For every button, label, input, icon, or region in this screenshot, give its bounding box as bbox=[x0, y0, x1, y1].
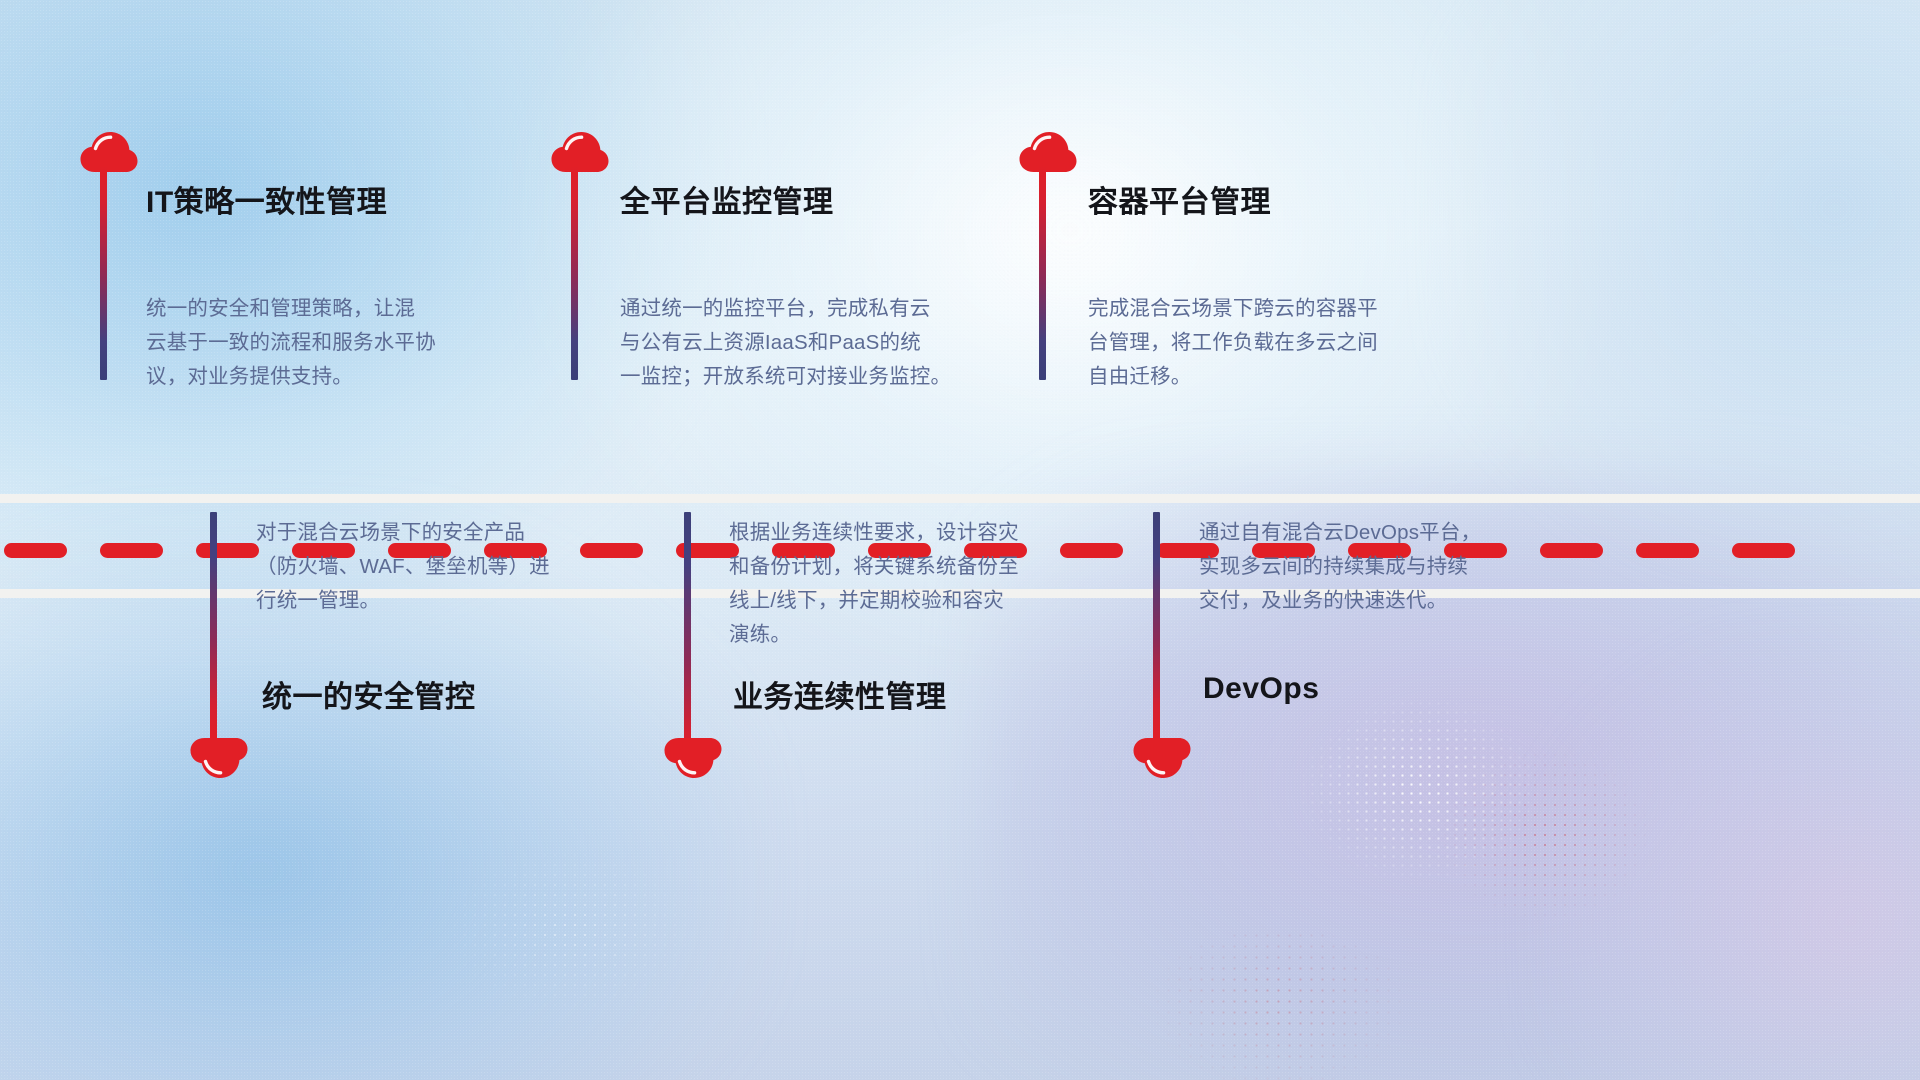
connector-pole bbox=[684, 512, 691, 775]
cloud-icon bbox=[1133, 737, 1191, 779]
bottom-row-group: 统一的安全管控 对于混合云场景下的安全产品 （防火墙、WAF、堡垒机等）进 行统… bbox=[0, 0, 1920, 1080]
connector-pole bbox=[1153, 512, 1160, 742]
body-line: 和备份计划，将关键系统备份至 bbox=[729, 550, 1089, 584]
card-title: 业务连续性管理 bbox=[733, 672, 947, 716]
connector-pole bbox=[210, 512, 217, 742]
body-line: 行统一管理。 bbox=[256, 584, 616, 618]
body-line: 根据业务连续性要求，设计容灾 bbox=[729, 516, 1089, 550]
body-line: 对于混合云场景下的安全产品 bbox=[256, 516, 616, 550]
infographic-canvas: IT策略一致性管理 统一的安全和管理策略，让混 云基于一致的流程和服务水平协 议… bbox=[0, 0, 1920, 1080]
card-title: 统一的安全管控 bbox=[262, 672, 476, 716]
body-line: 交付，及业务的快速迭代。 bbox=[1199, 584, 1569, 618]
body-line: 演练。 bbox=[729, 618, 1089, 652]
card-body: 对于混合云场景下的安全产品 （防火墙、WAF、堡垒机等）进 行统一管理。 bbox=[256, 516, 616, 618]
body-line: 线上/线下，并定期校验和容灾 bbox=[729, 584, 1089, 618]
card-body: 通过自有混合云DevOps平台， 实现多云间的持续集成与持续 交付，及业务的快速… bbox=[1199, 516, 1569, 618]
body-line: （防火墙、WAF、堡垒机等）进 bbox=[256, 550, 616, 584]
card-body: 根据业务连续性要求，设计容灾 和备份计划，将关键系统备份至 线上/线下，并定期校… bbox=[729, 516, 1089, 652]
card-title: DevOps bbox=[1203, 672, 1319, 706]
cloud-icon bbox=[664, 737, 722, 779]
body-line: 通过自有混合云DevOps平台， bbox=[1199, 516, 1569, 550]
cloud-icon bbox=[190, 737, 248, 779]
body-line: 实现多云间的持续集成与持续 bbox=[1199, 550, 1569, 584]
